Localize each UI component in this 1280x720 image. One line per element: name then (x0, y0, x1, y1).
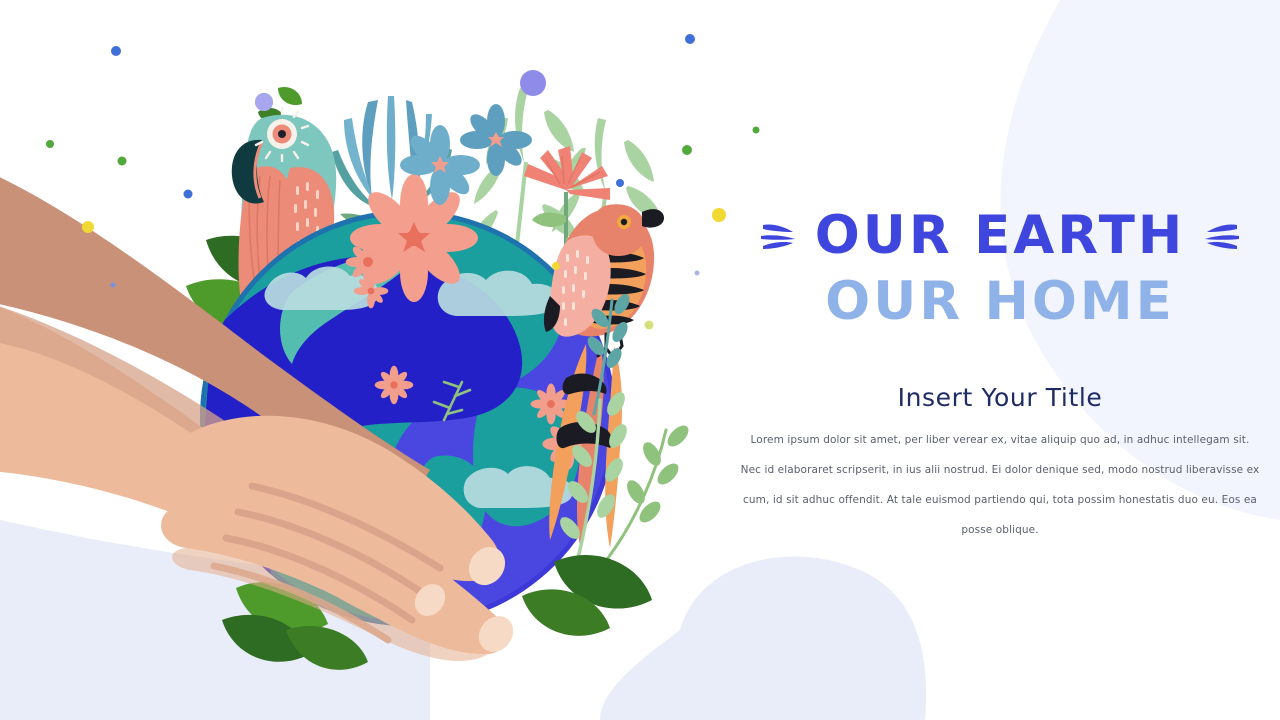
headline-block: OUR EARTH OUR HOME (720, 205, 1280, 331)
confetti-dot (685, 34, 695, 44)
confetti-dot (682, 145, 692, 155)
text-column: OUR EARTH OUR HOME Insert Your Title Lor… (720, 0, 1280, 720)
body-paragraph: Lorem ipsum dolor sit amet, per liber ve… (740, 425, 1260, 545)
confetti-dot (82, 221, 94, 233)
confetti-dot (111, 46, 121, 56)
headline-line-1: OUR EARTH (720, 205, 1280, 265)
confetti-dot (46, 140, 54, 148)
slide-canvas: OUR EARTH OUR HOME Insert Your Title Lor… (0, 0, 1280, 720)
confetti-dot (645, 321, 654, 330)
confetti-dot (255, 93, 273, 111)
confetti-dot (695, 271, 700, 276)
confetti-dot (520, 70, 546, 96)
subtitle-text: Insert Your Title (720, 383, 1280, 412)
confetti-dot (616, 179, 624, 187)
confetti-dot (184, 190, 193, 199)
sunburst-left-icon (759, 215, 801, 255)
headline-line-2: OUR HOME (720, 271, 1280, 331)
headline-secondary-text: OUR HOME (825, 275, 1175, 328)
sunburst-right-icon (1199, 215, 1241, 255)
confetti-dot (111, 283, 116, 288)
headline-primary-text: OUR EARTH (815, 209, 1186, 262)
confetti-dot (118, 157, 127, 166)
confetti-dot (552, 262, 560, 270)
